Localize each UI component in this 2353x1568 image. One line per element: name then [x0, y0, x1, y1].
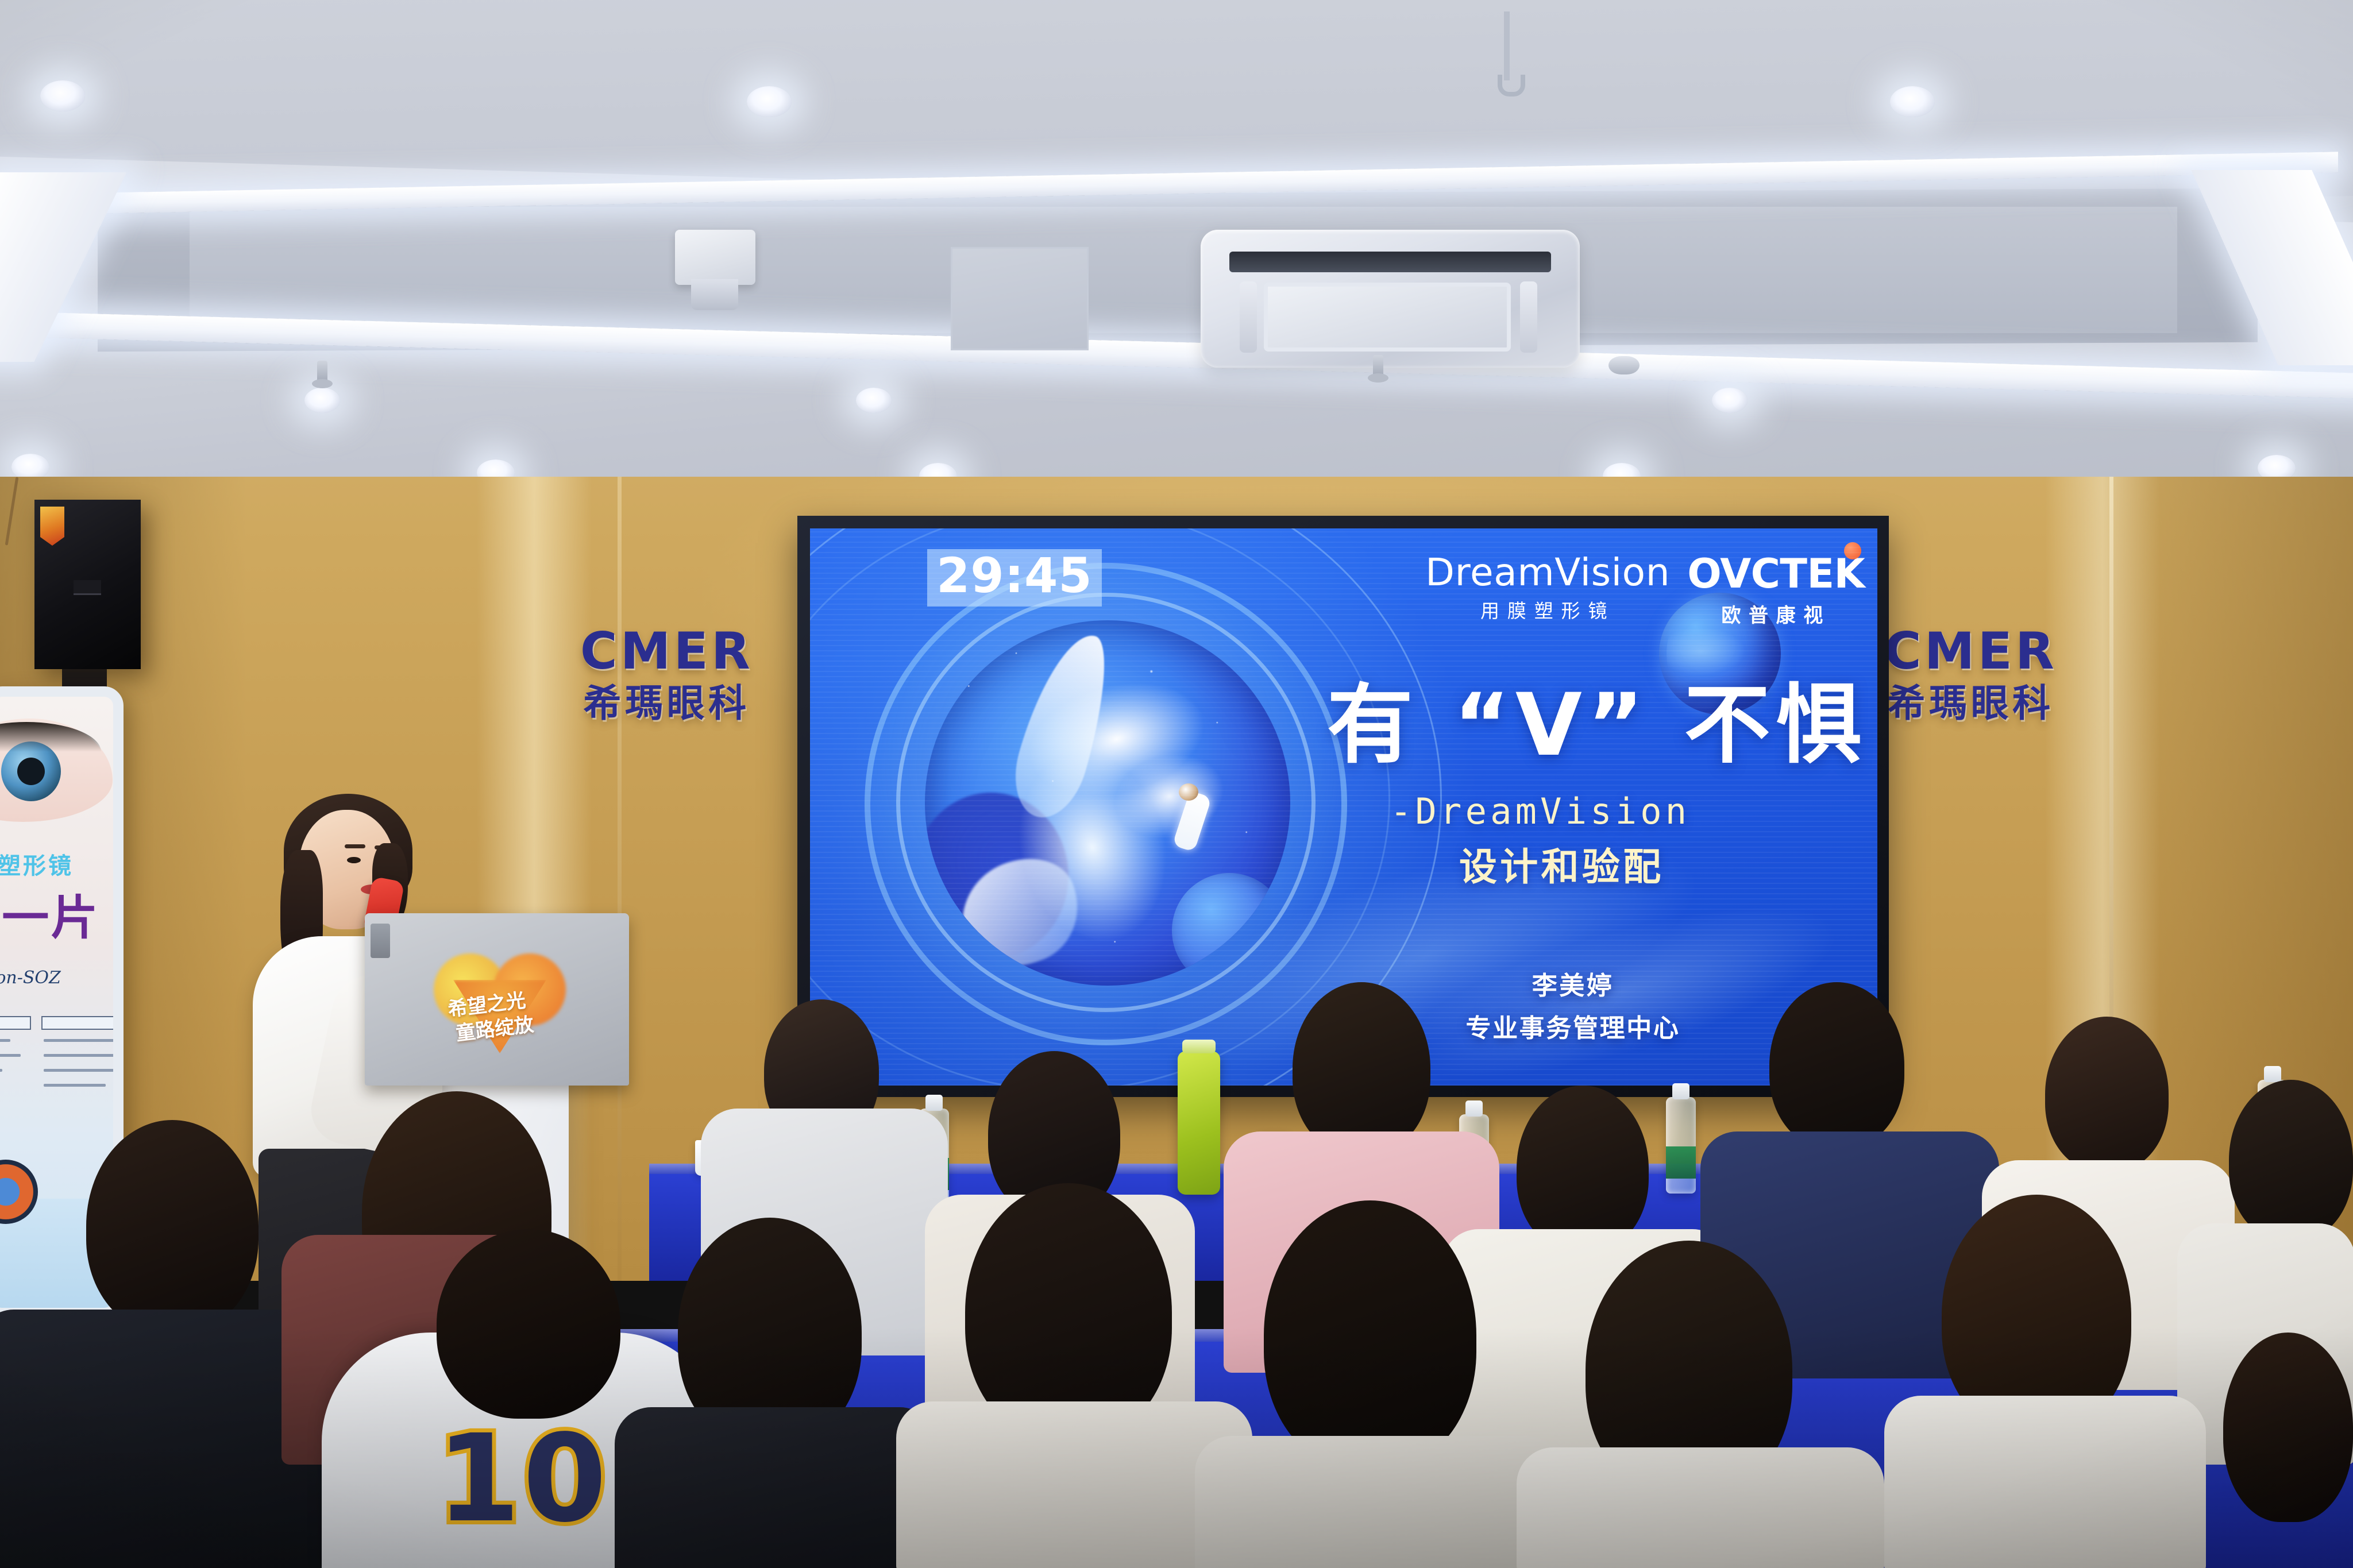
recessed-downlight [747, 86, 792, 117]
bottle-label [1666, 1146, 1696, 1179]
audience-torso [1884, 1396, 2206, 1568]
ceiling-recess-inner [190, 207, 2177, 333]
ovctek-en: OVCTEK [1687, 550, 1865, 597]
slide-title: 有 “V” 不惧 [1327, 682, 1867, 768]
eye-lashes [0, 722, 101, 752]
ceiling-hanger-hook [1504, 11, 1510, 80]
audience-head [2229, 1080, 2353, 1241]
poster-eye-image [0, 719, 113, 822]
recessed-downlight [1890, 86, 1935, 117]
wall-logo-cmer-right: CMER 希瑪眼科 [1884, 626, 2057, 723]
poster-spec-line [44, 1039, 124, 1042]
countdown-timer: 29:45 [927, 549, 1102, 607]
recessed-downlight [40, 80, 85, 111]
audience-head [1264, 1200, 1476, 1470]
dreamvision-cn: 用膜塑形镜 [1425, 596, 1670, 623]
speaker-brand-badge [74, 580, 101, 595]
speaker-sticker [40, 507, 64, 546]
recessed-downlight [304, 388, 340, 413]
ovctek-dot-icon [1844, 542, 1861, 559]
cassette-ac-unit [1201, 230, 1580, 368]
ovctek-cn: 欧普康视 [1687, 600, 1865, 628]
presenter-eye [347, 857, 361, 863]
poster-purple-line: 眼一片 [0, 879, 100, 948]
brand-ovctek: OVCTEK 欧普康视 [1687, 550, 1865, 628]
wall-speaker [34, 500, 141, 669]
whale-emblem-core [925, 620, 1290, 986]
audience-torso [1517, 1447, 1884, 1568]
presenter-laptop: 希望之光 童路绽放 [365, 913, 629, 1086]
poster-spec-box [41, 1016, 124, 1030]
slide-brand-row: DreamVision 用膜塑形镜 OVCTEK 欧普康视 [1425, 550, 1865, 628]
cmer-logo-en: CMER [1884, 626, 2057, 677]
ac-vane [1240, 281, 1257, 353]
slide-presenter-block: 李美婷 专业事务管理中心 [1452, 965, 1694, 1044]
audience-head [437, 1229, 620, 1419]
audience-head [1517, 1086, 1649, 1252]
audience-head [86, 1120, 259, 1333]
poster-teal-line: 角膜塑形镜 [0, 847, 74, 880]
ceiling-access-panel [951, 247, 1089, 350]
water-bottle [1666, 1097, 1696, 1194]
audience-head [1293, 982, 1430, 1154]
smoke-detector-icon [1608, 356, 1640, 374]
poster-spec-line [0, 1069, 2, 1072]
dreamvision-en: DreamVision [1425, 550, 1670, 594]
cmer-logo-en: CMER [580, 626, 753, 677]
audience-head [2223, 1333, 2353, 1522]
astronaut-head [1179, 783, 1198, 801]
presenter-dept: 专业事务管理中心 [1452, 1007, 1694, 1044]
brand-dreamvision: DreamVision 用膜塑形镜 [1425, 550, 1670, 623]
sprinkler-head [1373, 355, 1383, 381]
projector-mount-icon [675, 230, 755, 285]
poster-spec-line [44, 1084, 106, 1087]
recessed-downlight [856, 388, 892, 413]
audience-head [2045, 1017, 2169, 1172]
ac-face-panel [1264, 283, 1511, 352]
cmer-logo-cn: 希瑪眼科 [580, 685, 753, 723]
poster-spec-box [0, 1016, 31, 1030]
laptop-hinge [371, 924, 390, 958]
poster-spec-line [0, 1039, 10, 1042]
poster-spec-line [0, 1054, 21, 1057]
laptop-heart-sticker: 希望之光 童路绽放 [434, 953, 566, 1057]
slide-subtitle-en: -DreamVision [1390, 790, 1690, 832]
ac-vane [1520, 281, 1537, 353]
audience-head [1769, 982, 1904, 1149]
slide-subtitle-cn: 设计和验配 [1459, 836, 1664, 891]
sprinkler-head [317, 361, 327, 387]
presenter-name: 李美婷 [1452, 965, 1694, 1002]
wall-panel-seam [618, 477, 622, 1281]
recessed-downlight [1712, 388, 1748, 413]
audience-torso [1195, 1436, 1563, 1568]
poster-model-line: ...Vision-SOZ [0, 968, 61, 988]
green-thermos-bottle [1178, 1051, 1220, 1195]
ac-grille [1229, 252, 1551, 272]
eye-pupil [17, 758, 45, 785]
ceiling [0, 0, 2353, 505]
screenshot-root: 角膜塑形镜 眼一片 ...Vision-SOZ CMER 希瑪眼科 CMER 希… [0, 0, 2353, 1568]
wall-logo-cmer-left: CMER 希瑪眼科 [580, 626, 753, 723]
presenter-eyebrow [345, 844, 365, 848]
poster-spec-line [44, 1054, 114, 1057]
poster-spec-line [44, 1069, 124, 1072]
cmer-logo-cn: 希瑪眼科 [1884, 685, 2057, 723]
audience-torso [615, 1407, 936, 1568]
